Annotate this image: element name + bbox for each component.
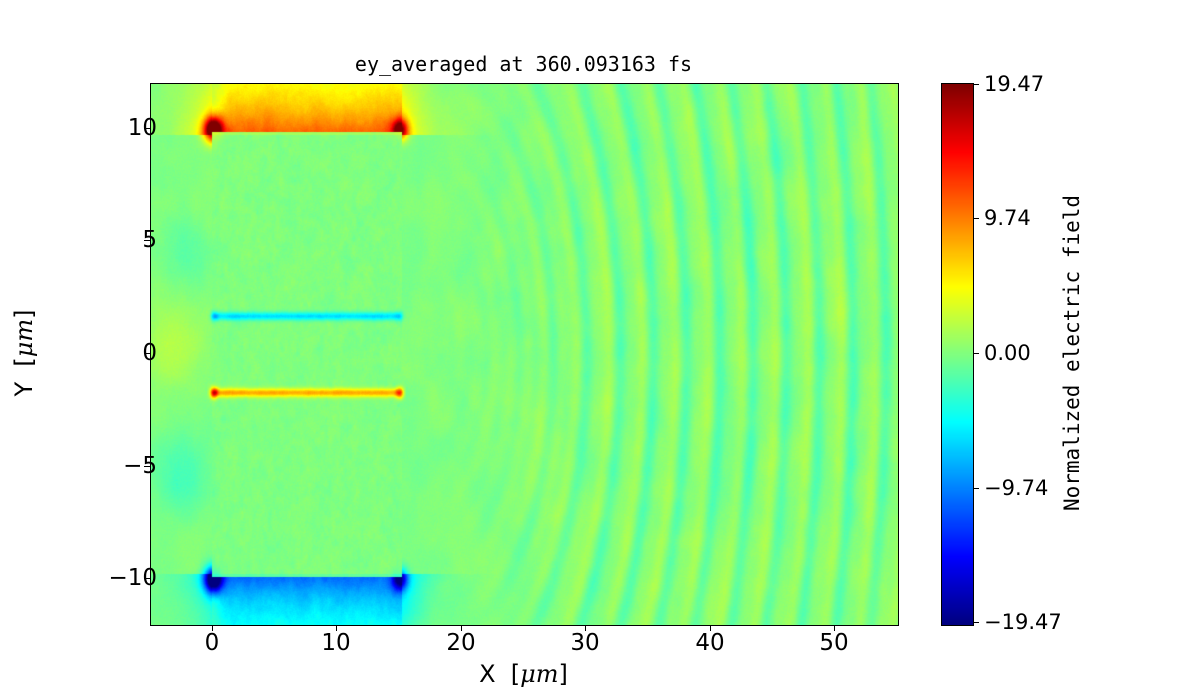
y-axis-label: Y [μm]	[10, 309, 38, 396]
x-axis-label-bracket: ]	[559, 660, 568, 688]
plot-title: ey_averaged at 360.093163 fs	[150, 52, 897, 76]
colorbar-tick-mark	[973, 218, 979, 219]
colorbar-tick-label: 9.74	[984, 206, 1031, 230]
colorbar-tick-mark	[973, 622, 979, 623]
ytick-label: −5	[123, 453, 157, 479]
xtick-label: 50	[819, 630, 848, 656]
colorbar-gradient	[942, 84, 973, 625]
x-axis-label-units: μm	[520, 660, 558, 688]
colorbar-tick-label: 19.47	[984, 72, 1044, 96]
y-axis-label-text: Y [	[10, 357, 38, 396]
colorbar	[941, 83, 974, 626]
matplotlib-figure: ey_averaged at 360.093163 fs 0 10 20 30 …	[0, 0, 1200, 700]
colorbar-axis-label: Normalized electric field	[1060, 195, 1084, 511]
ytick-label: 10	[128, 115, 157, 141]
heatmap-plot-area	[150, 83, 899, 626]
xtick-label: 10	[321, 630, 350, 656]
ytick-label: 0	[142, 340, 157, 366]
colorbar-tick-mark	[973, 84, 979, 85]
x-axis-label: X [μm]	[150, 660, 897, 688]
colorbar-tick-mark	[973, 353, 979, 354]
ytick-label: −10	[108, 565, 157, 591]
ytick-label: 5	[142, 227, 157, 253]
colorbar-tick-mark	[973, 488, 979, 489]
xtick-label: 30	[570, 630, 599, 656]
xtick-label: 40	[695, 630, 724, 656]
colorbar-tick-label: −19.47	[984, 610, 1062, 634]
field-heatmap-canvas	[151, 84, 898, 625]
xtick-label: 0	[205, 630, 220, 656]
x-axis-label-text: X [	[479, 660, 520, 688]
y-axis-label-bracket: ]	[10, 309, 38, 318]
y-axis-label-units: μm	[10, 319, 38, 357]
xtick-label: 20	[446, 630, 475, 656]
colorbar-tick-label: −9.74	[984, 476, 1048, 500]
colorbar-tick-label: 0.00	[984, 341, 1031, 365]
